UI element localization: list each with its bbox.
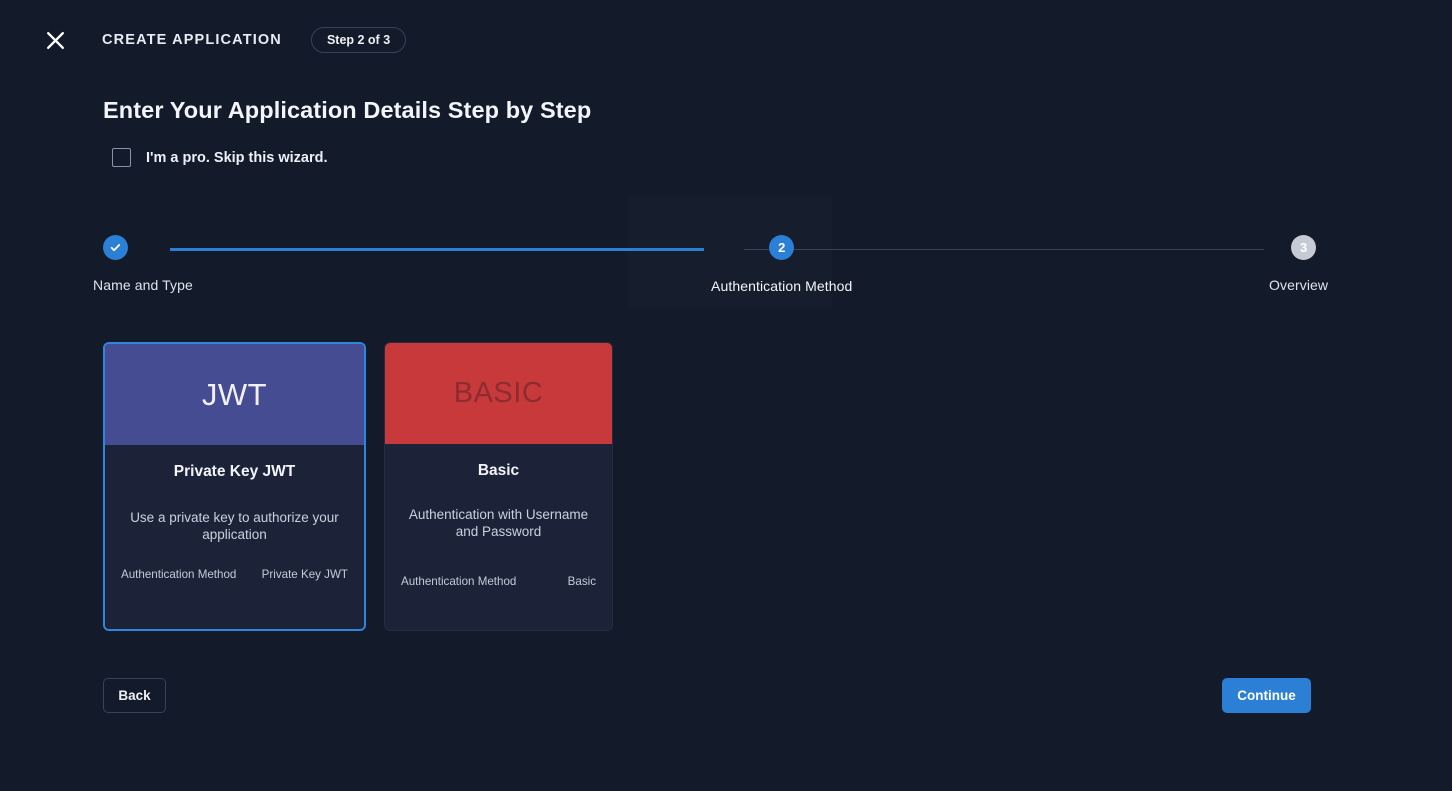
stepper-label-2: Authentication Method [711,278,852,294]
back-button[interactable]: Back [103,678,166,713]
stepper-step-authentication-method[interactable]: 2 Authentication Method [711,235,852,294]
auth-option-private-key-jwt[interactable]: JWT Private Key JWT Use a private key to… [103,342,366,631]
skip-wizard-checkbox[interactable] [112,148,131,167]
headline: Enter Your Application Details Step by S… [103,97,591,124]
wizard-stepper: Name and Type 2 Authentication Method 3 … [0,195,1452,325]
close-icon[interactable] [38,23,72,57]
skip-wizard-row[interactable]: I'm a pro. Skip this wizard. [112,148,328,167]
basic-meta-value: Basic [568,575,596,588]
continue-button[interactable]: Continue [1222,678,1311,713]
stepper-step-overview[interactable]: 3 Overview [1269,235,1316,293]
wizard-header: CREATE APPLICATION Step 2 of 3 [0,0,1452,80]
stepper-rail-completed [170,248,704,251]
jwt-card-title: Private Key JWT [174,463,295,481]
jwt-card-description: Use a private key to authorize your appl… [124,509,346,544]
create-application-wizard: CREATE APPLICATION Step 2 of 3 Enter You… [0,0,1452,791]
step-badge[interactable]: Step 2 of 3 [311,27,406,53]
skip-wizard-label: I'm a pro. Skip this wizard. [146,150,328,166]
basic-card-meta: Authentication Method Basic [399,575,598,616]
basic-card-description: Authentication with Username and Passwor… [399,506,598,541]
stepper-label-1: Name and Type [93,277,193,293]
stepper-label-3: Overview [1269,277,1328,293]
basic-banner: BASIC [385,343,612,444]
basic-card-title: Basic [478,462,519,480]
basic-meta-key: Authentication Method [401,575,516,588]
jwt-card-body: Private Key JWT Use a private key to aut… [105,445,364,629]
check-icon [103,235,128,260]
jwt-banner: JWT [105,344,364,445]
stepper-dot-3: 3 [1291,235,1316,260]
stepper-dot-2: 2 [769,235,794,260]
jwt-meta-key: Authentication Method [121,568,236,581]
auth-method-options: JWT Private Key JWT Use a private key to… [103,342,613,631]
auth-option-basic[interactable]: BASIC Basic Authentication with Username… [384,342,613,631]
jwt-card-meta: Authentication Method Private Key JWT [119,568,350,615]
basic-card-body: Basic Authentication with Username and P… [385,444,612,630]
jwt-meta-value: Private Key JWT [262,568,348,581]
stepper-step-name-and-type[interactable]: Name and Type [103,235,193,293]
page-title: CREATE APPLICATION [102,32,282,48]
